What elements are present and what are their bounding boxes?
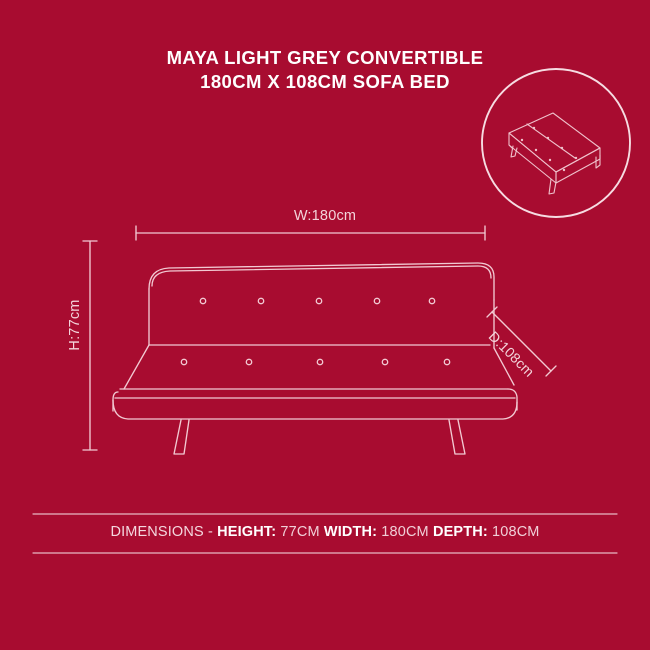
height-dimension-label: H:77cm: [67, 292, 83, 358]
sofa-bed-flat-illustration: [509, 113, 600, 194]
width-key: WIDTH:: [324, 524, 377, 540]
depth-key: DEPTH:: [433, 524, 488, 540]
dimensions-summary-text: DIMENSIONS - HEIGHT: 77CM WIDTH: 180CM D…: [110, 524, 539, 540]
width-dimension-line: [136, 226, 485, 240]
inset-circle-frame: [482, 69, 630, 217]
product-dimension-card: MAYA LIGHT GREY CONVERTIBLE 180CM X 108C…: [0, 0, 650, 650]
height-value-text: 77CM: [280, 524, 319, 540]
height-key: HEIGHT:: [217, 524, 276, 540]
width-value-text: 180CM: [381, 524, 429, 540]
dimensions-summary: DIMENSIONS - HEIGHT: 77CM WIDTH: 180CM D…: [0, 523, 650, 541]
sofa-illustration: [113, 263, 517, 454]
diagram-artwork: [0, 0, 650, 650]
dimensions-prefix: DIMENSIONS -: [110, 524, 217, 540]
width-dimension-label: W:180cm: [0, 208, 650, 224]
depth-value-text: 108CM: [492, 524, 540, 540]
height-dimension-line: [83, 241, 97, 450]
